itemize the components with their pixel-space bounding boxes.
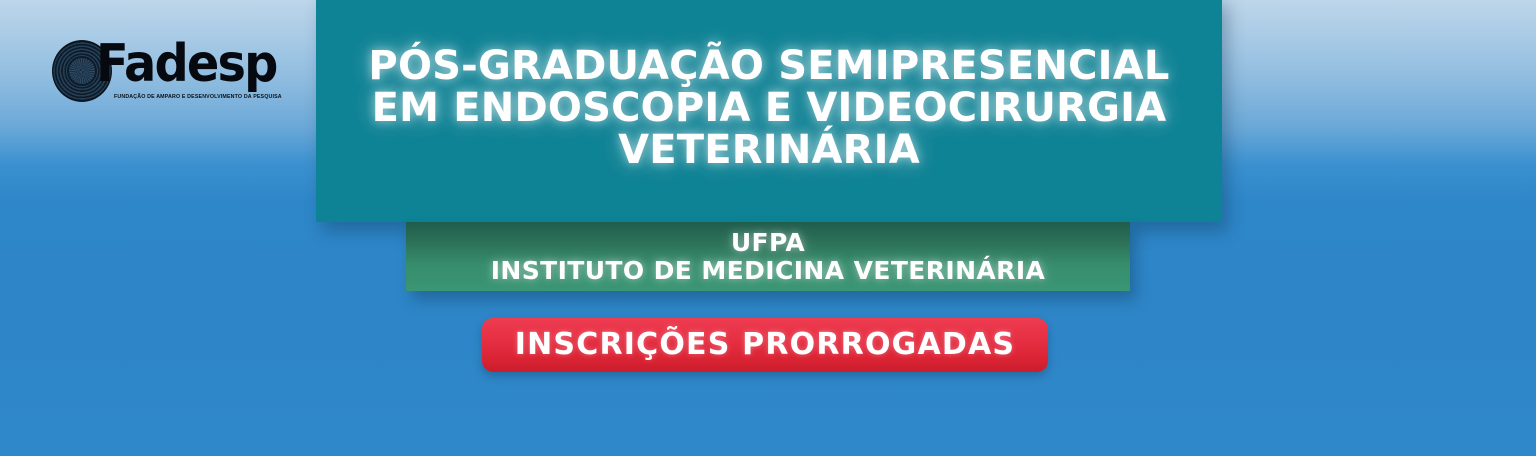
institution-name: UFPA INSTITUTO DE MEDICINA VETERINÁRIA xyxy=(491,229,1046,285)
course-title-panel: PÓS-GRADUAÇÃO SEMIPRESENCIAL EM ENDOSCOP… xyxy=(316,0,1222,222)
course-title: PÓS-GRADUAÇÃO SEMIPRESENCIAL EM ENDOSCOP… xyxy=(354,45,1183,171)
status-badge-label: INSCRIÇÕES PRORROGADAS xyxy=(515,329,1015,361)
course-promo-banner: Fadesp FUNDAÇÃO DE AMPARO E DESENVOLVIME… xyxy=(0,0,1536,456)
status-badge: INSCRIÇÕES PRORROGADAS xyxy=(482,318,1048,372)
fadesp-wordmark: Fadesp xyxy=(96,38,277,90)
fadesp-tagline: FUNDAÇÃO DE AMPARO E DESENVOLVIMENTO DA … xyxy=(114,94,282,100)
institution-panel: UFPA INSTITUTO DE MEDICINA VETERINÁRIA xyxy=(406,222,1130,291)
fadesp-logo: Fadesp FUNDAÇÃO DE AMPARO E DESENVOLVIME… xyxy=(52,38,282,110)
